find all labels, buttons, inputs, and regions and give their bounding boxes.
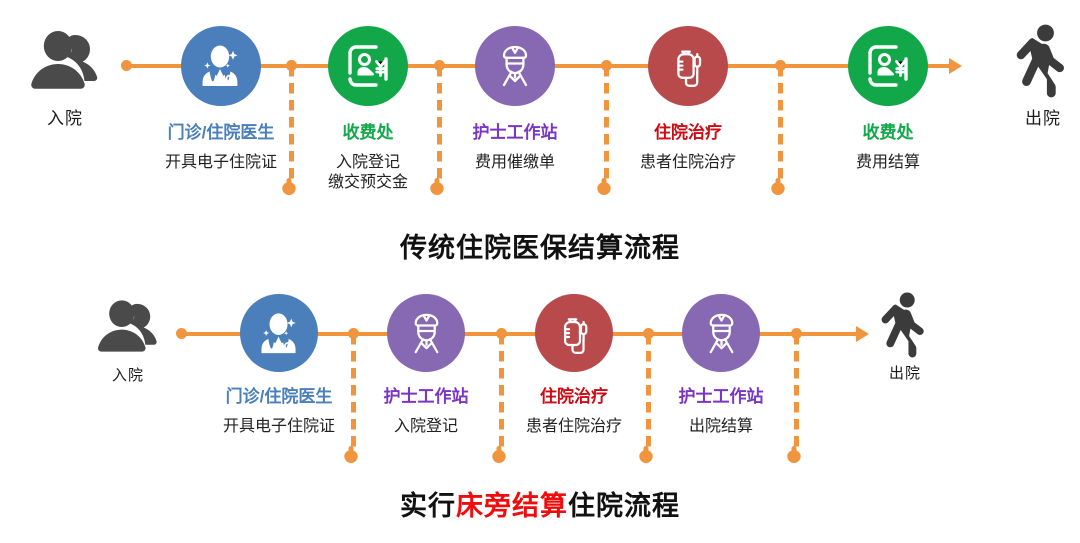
divider-pin-icon bbox=[639, 446, 653, 463]
walking-person-icon bbox=[988, 22, 1080, 100]
top-step-1-sub: 开具电子住院证 bbox=[165, 153, 277, 173]
doctor-icon bbox=[256, 310, 303, 357]
top-flow-section: 入院 门诊/住院医生 开具电子住院证 bbox=[0, 0, 1080, 270]
top-step-5-sub: 费用结算 bbox=[856, 153, 920, 173]
top-flow-caption-text: 传统住院医保结算流程 bbox=[400, 233, 680, 263]
two-people-icon bbox=[78, 294, 178, 360]
bottom-step-1-sub: 开具电子住院证 bbox=[223, 417, 335, 437]
bottom-flow-caption: 实行床旁结算住院流程 bbox=[0, 484, 1080, 523]
doctor-icon bbox=[197, 42, 245, 90]
top-end-label: 出院 bbox=[988, 104, 1080, 129]
divider-pin-icon bbox=[344, 446, 358, 463]
top-start-label: 入院 bbox=[10, 104, 120, 129]
bottom-step-4-circle bbox=[682, 294, 760, 372]
bottom-step-2-title: 护士工作站 bbox=[384, 382, 469, 407]
top-start-endpoint: 入院 bbox=[10, 22, 120, 129]
bottom-end-endpoint: 出院 bbox=[855, 292, 955, 383]
nurse-icon bbox=[697, 309, 746, 358]
top-end-endpoint: 出院 bbox=[988, 22, 1080, 129]
top-step-5-title: 收费处 bbox=[863, 118, 914, 143]
top-step-2-title: 收费处 bbox=[343, 118, 394, 143]
nurse-icon bbox=[490, 41, 540, 91]
bottom-step-1-title: 门诊/住院医生 bbox=[226, 382, 333, 407]
bottom-caption-part-1: 实行 bbox=[400, 491, 456, 521]
iv-drip-icon bbox=[551, 310, 598, 357]
top-step-5-circle bbox=[848, 26, 928, 106]
top-step-3-title: 护士工作站 bbox=[473, 118, 558, 143]
bottom-step-2-sub: 入院登记 bbox=[394, 417, 458, 437]
bottom-start-label: 入院 bbox=[78, 364, 178, 385]
top-step-3-sub: 费用催缴单 bbox=[475, 153, 555, 173]
divider-pin-icon bbox=[771, 178, 785, 195]
top-rail-dot-0 bbox=[121, 60, 132, 71]
top-step-2-sub: 入院登记 缴交预交金 bbox=[328, 153, 408, 194]
top-flow-caption: 传统住院医保结算流程 bbox=[0, 226, 1080, 265]
top-flow-arrowhead bbox=[949, 58, 962, 74]
iv-drip-icon bbox=[664, 42, 712, 90]
top-step-2-circle bbox=[328, 26, 408, 106]
payment-card-icon bbox=[343, 41, 393, 91]
divider-pin-icon bbox=[787, 446, 801, 463]
top-step-3-circle bbox=[475, 26, 555, 106]
bottom-start-endpoint: 入院 bbox=[78, 294, 178, 385]
top-step-4-title: 住院治疗 bbox=[654, 118, 722, 143]
flowchart-canvas: 入院 门诊/住院医生 开具电子住院证 bbox=[0, 0, 1080, 543]
divider-pin-icon bbox=[492, 446, 506, 463]
walking-person-icon bbox=[855, 292, 955, 358]
divider-pin-icon bbox=[430, 178, 444, 195]
top-step-4-sub: 患者住院治疗 bbox=[640, 153, 736, 173]
bottom-end-label: 出院 bbox=[855, 362, 955, 383]
bottom-step-3-title: 住院治疗 bbox=[540, 382, 608, 407]
bottom-caption-part-3: 住院流程 bbox=[568, 491, 680, 521]
bottom-step-3-circle bbox=[535, 294, 613, 372]
nurse-icon bbox=[402, 309, 451, 358]
divider-pin-icon bbox=[282, 178, 296, 195]
top-step-4-circle bbox=[648, 26, 728, 106]
bottom-step-1-circle bbox=[240, 294, 318, 372]
divider-pin-icon bbox=[597, 178, 611, 195]
payment-card-icon bbox=[863, 41, 913, 91]
bottom-flow-section: 入院 门诊/住院医生 开具电子住院证 bbox=[0, 272, 1080, 543]
bottom-step-4-sub: 出院结算 bbox=[689, 417, 753, 437]
top-step-2-sub-line2: 缴交预交金 bbox=[328, 173, 408, 193]
bottom-step-3-sub: 患者住院治疗 bbox=[526, 417, 622, 437]
bottom-step-4-title: 护士工作站 bbox=[679, 382, 764, 407]
top-step-1-circle bbox=[181, 26, 261, 106]
bottom-caption-highlight: 床旁结算 bbox=[456, 491, 568, 521]
bottom-step-2-circle bbox=[387, 294, 465, 372]
two-people-icon bbox=[10, 22, 120, 100]
top-step-1-title: 门诊/住院医生 bbox=[168, 118, 275, 143]
top-step-2-sub-line1: 入院登记 bbox=[328, 153, 408, 173]
